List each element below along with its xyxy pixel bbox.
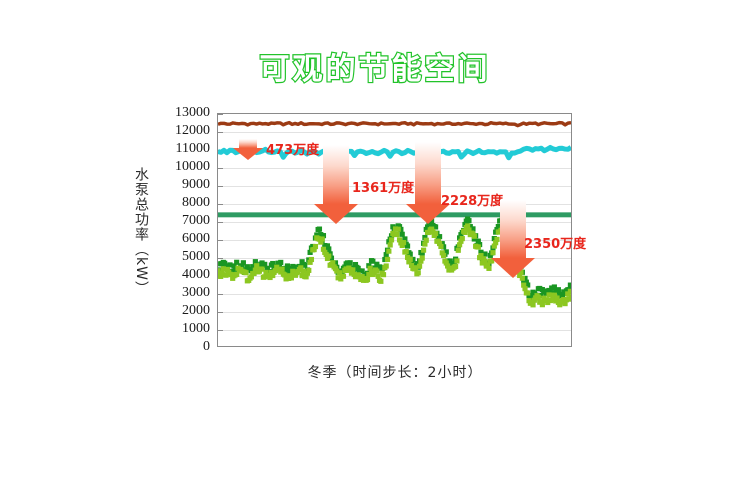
annotation-label-a4: 2350万度 — [524, 233, 586, 252]
y-tick-label: 2000 — [152, 306, 210, 316]
y-tick-label: 12000 — [152, 126, 210, 136]
y-tick-label: 6000 — [152, 234, 210, 244]
y-tick-label: 13000 — [152, 108, 210, 118]
arrow-shaft — [500, 200, 526, 258]
y-tick-label: 9000 — [152, 180, 210, 190]
y-tick-label: 8000 — [152, 198, 210, 208]
y-tick-label: 11000 — [152, 144, 210, 154]
x-axis-label: 冬季（时间步长：2小时） — [217, 362, 573, 382]
annotation-label-a2: 1361万度 — [352, 177, 414, 196]
y-axis-label: 水泵总功率（kW） — [128, 118, 154, 344]
arrow-head — [491, 258, 535, 278]
arrow-shaft — [415, 142, 441, 204]
y-tick-label: 5000 — [152, 252, 210, 262]
y-tick-label: 4000 — [152, 270, 210, 280]
series-baseline-brown — [218, 123, 571, 126]
chart-title: 可观的节能空间 — [0, 44, 750, 88]
annotation-arrow-a3 — [406, 142, 450, 224]
chart-canvas: 可观的节能空间 水泵总功率（kW） 冬季（时间步长：2小时） 130001200… — [0, 0, 750, 500]
annotation-label-a1: 473万度 — [266, 139, 319, 158]
y-tick-label: 1000 — [152, 324, 210, 334]
y-tick-label: 3000 — [152, 288, 210, 298]
arrow-shaft — [239, 139, 257, 148]
y-tick-label: 0 — [152, 342, 210, 352]
annotation-arrow-a1 — [233, 139, 263, 160]
y-tick-label: 7000 — [152, 216, 210, 226]
y-axis-tick-labels: 1300012000110001000090008000700060005000… — [152, 0, 210, 500]
arrow-head — [233, 148, 263, 160]
arrow-shaft — [323, 145, 349, 204]
arrow-head — [314, 204, 358, 224]
y-tick-label: 10000 — [152, 162, 210, 172]
